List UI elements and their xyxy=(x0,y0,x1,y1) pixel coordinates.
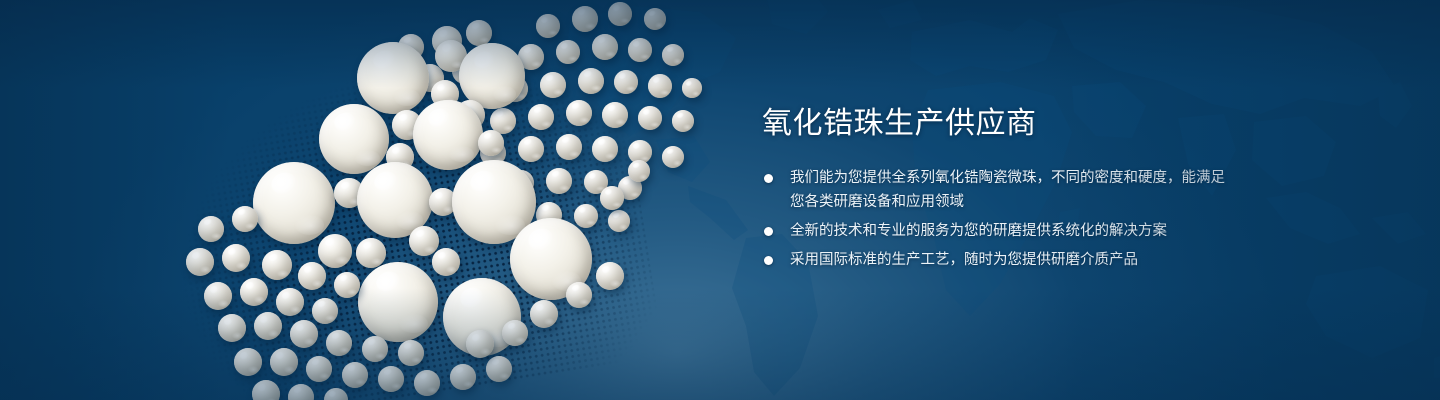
hero-banner: 氧化锆珠生产供应商 我们能为您提供全系列氧化锆陶瓷微珠，不同的密度和硬度，能满足… xyxy=(0,0,1440,400)
background-vignette xyxy=(0,0,1440,400)
